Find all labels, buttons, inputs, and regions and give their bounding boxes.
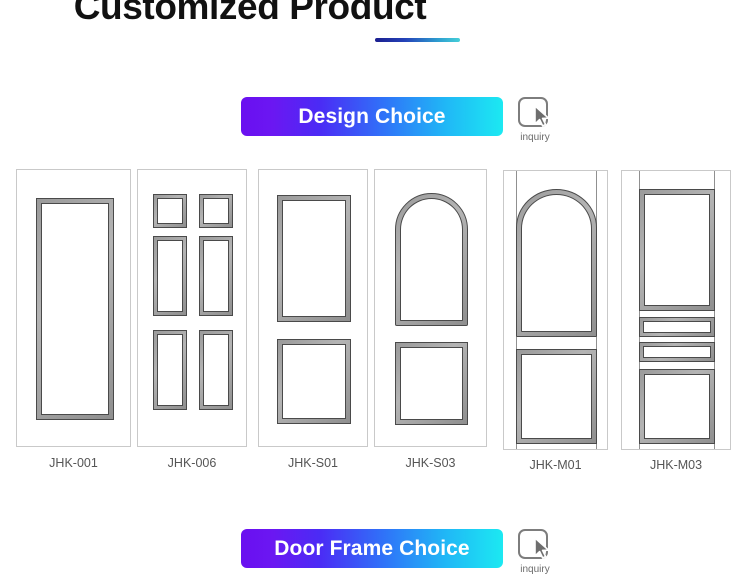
design-choice-section: Design Choice inquiry — [241, 97, 556, 144]
door-panel — [639, 342, 715, 362]
door-label: JHK-S01 — [258, 456, 368, 470]
door-card[interactable] — [16, 169, 131, 447]
door-panel — [199, 236, 233, 316]
door-panel — [277, 339, 351, 424]
cursor-pointer-icon[interactable] — [518, 529, 552, 563]
door-label: JHK-M01 — [503, 458, 608, 472]
mouse-cursor-icon — [533, 105, 552, 132]
inquiry-label: inquiry — [520, 564, 549, 576]
door-card[interactable] — [258, 169, 368, 447]
door-panel — [639, 317, 715, 337]
door-panel — [395, 193, 468, 326]
door-panel — [639, 189, 715, 311]
door-panel — [516, 349, 597, 444]
page-title: Customized Product — [0, 0, 500, 28]
design-choice-button[interactable]: Design Choice — [241, 97, 503, 136]
inquiry-label: inquiry — [520, 132, 549, 144]
door-label: JHK-S03 — [374, 456, 487, 470]
door-panel — [153, 194, 187, 228]
door-gallery: JHK-001 JHK-006 JHK-S01 JHK-S03 — [0, 160, 750, 490]
door-panel — [153, 330, 187, 410]
door-panel — [516, 189, 597, 337]
door-panel — [395, 342, 468, 425]
door-frame-choice-section: Door Frame Choice inquiry — [241, 529, 556, 576]
door-panel — [199, 330, 233, 410]
door-label: JHK-006 — [137, 456, 247, 470]
title-divider — [375, 38, 460, 42]
door-frame-choice-button[interactable]: Door Frame Choice — [241, 529, 503, 568]
door-panel — [36, 198, 114, 420]
door-label: JHK-M03 — [621, 458, 731, 472]
door-card[interactable] — [621, 170, 731, 450]
door-card[interactable] — [503, 170, 608, 450]
door-panel — [199, 194, 233, 228]
door-card[interactable] — [137, 169, 247, 447]
door-card[interactable] — [374, 169, 487, 447]
door-panel — [639, 369, 715, 444]
mouse-cursor-icon — [533, 537, 552, 564]
design-choice-inquiry[interactable]: inquiry — [514, 97, 556, 144]
cursor-pointer-icon[interactable] — [518, 97, 552, 131]
door-panel — [153, 236, 187, 316]
door-frame-choice-inquiry[interactable]: inquiry — [514, 529, 556, 576]
door-panel — [277, 195, 351, 322]
door-label: JHK-001 — [16, 456, 131, 470]
